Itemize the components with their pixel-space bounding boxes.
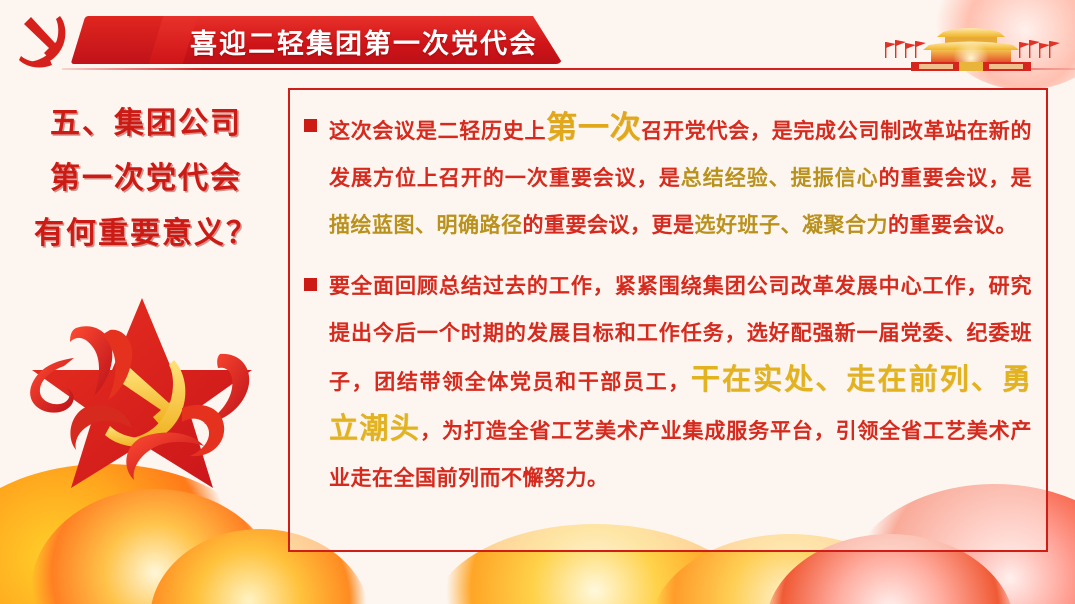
red-star-hammer-sickle-ribbon-icon xyxy=(14,288,279,513)
square-bullet-icon xyxy=(304,119,317,132)
bullet-item-2: 要全面回顾总结过去的工作，紧紧围绕集团公司改革发展中心工作，研究提出今后一个时期… xyxy=(290,263,1046,502)
paragraph-1: 这次会议是二轻历史上第一次召开党代会，是完成公司制改革站在新的发展方位上召开的一… xyxy=(329,104,1046,249)
page-title-line-1: 五、集团公司 xyxy=(20,96,272,151)
text-segment: 的重要会议，是 xyxy=(879,167,1032,190)
slide-header: 喜迎二轻集团第一次党代会 xyxy=(0,0,1075,84)
bullet-item-1: 这次会议是二轻历史上第一次召开党代会，是完成公司制改革站在新的发展方位上召开的一… xyxy=(290,104,1046,249)
banner-title: 喜迎二轻集团第一次党代会 xyxy=(190,22,538,61)
text-segment: ，为打造全省工艺美术产业集成服务平台，引领全省工艺美术产业走在全国前列而不懈努力… xyxy=(329,420,1032,490)
page-title-line-2: 第一次党代会 xyxy=(20,151,272,206)
slide-canvas: 喜迎二轻集团第一次党代会 xyxy=(0,0,1075,604)
text-segment: 描绘蓝图、明确路径 xyxy=(329,214,523,237)
text-segment: 这次会议是二轻历史上 xyxy=(329,120,546,143)
party-hammer-sickle-icon xyxy=(10,10,76,72)
content-panel: 这次会议是二轻历史上第一次召开党代会，是完成公司制改革站在新的发展方位上召开的一… xyxy=(288,88,1048,552)
text-segment: 第一次 xyxy=(546,110,641,145)
text-segment: 总结经验、提振信心 xyxy=(681,167,879,190)
paragraph-2: 要全面回顾总结过去的工作，紧紧围绕集团公司改革发展中心工作，研究提出今后一个时期… xyxy=(329,263,1046,502)
text-segment: 选好班子、凝聚合力 xyxy=(695,214,889,237)
page-title-line-3: 有何重要意义？ xyxy=(20,206,272,261)
text-segment: 的重要会议，更是 xyxy=(523,214,695,237)
text-segment: 的重要会议。 xyxy=(888,214,1017,237)
square-bullet-icon xyxy=(304,278,317,291)
tiananmen-gate-icon xyxy=(871,18,1071,74)
section-title: 五、集团公司 第一次党代会 有何重要意义？ xyxy=(20,96,272,261)
